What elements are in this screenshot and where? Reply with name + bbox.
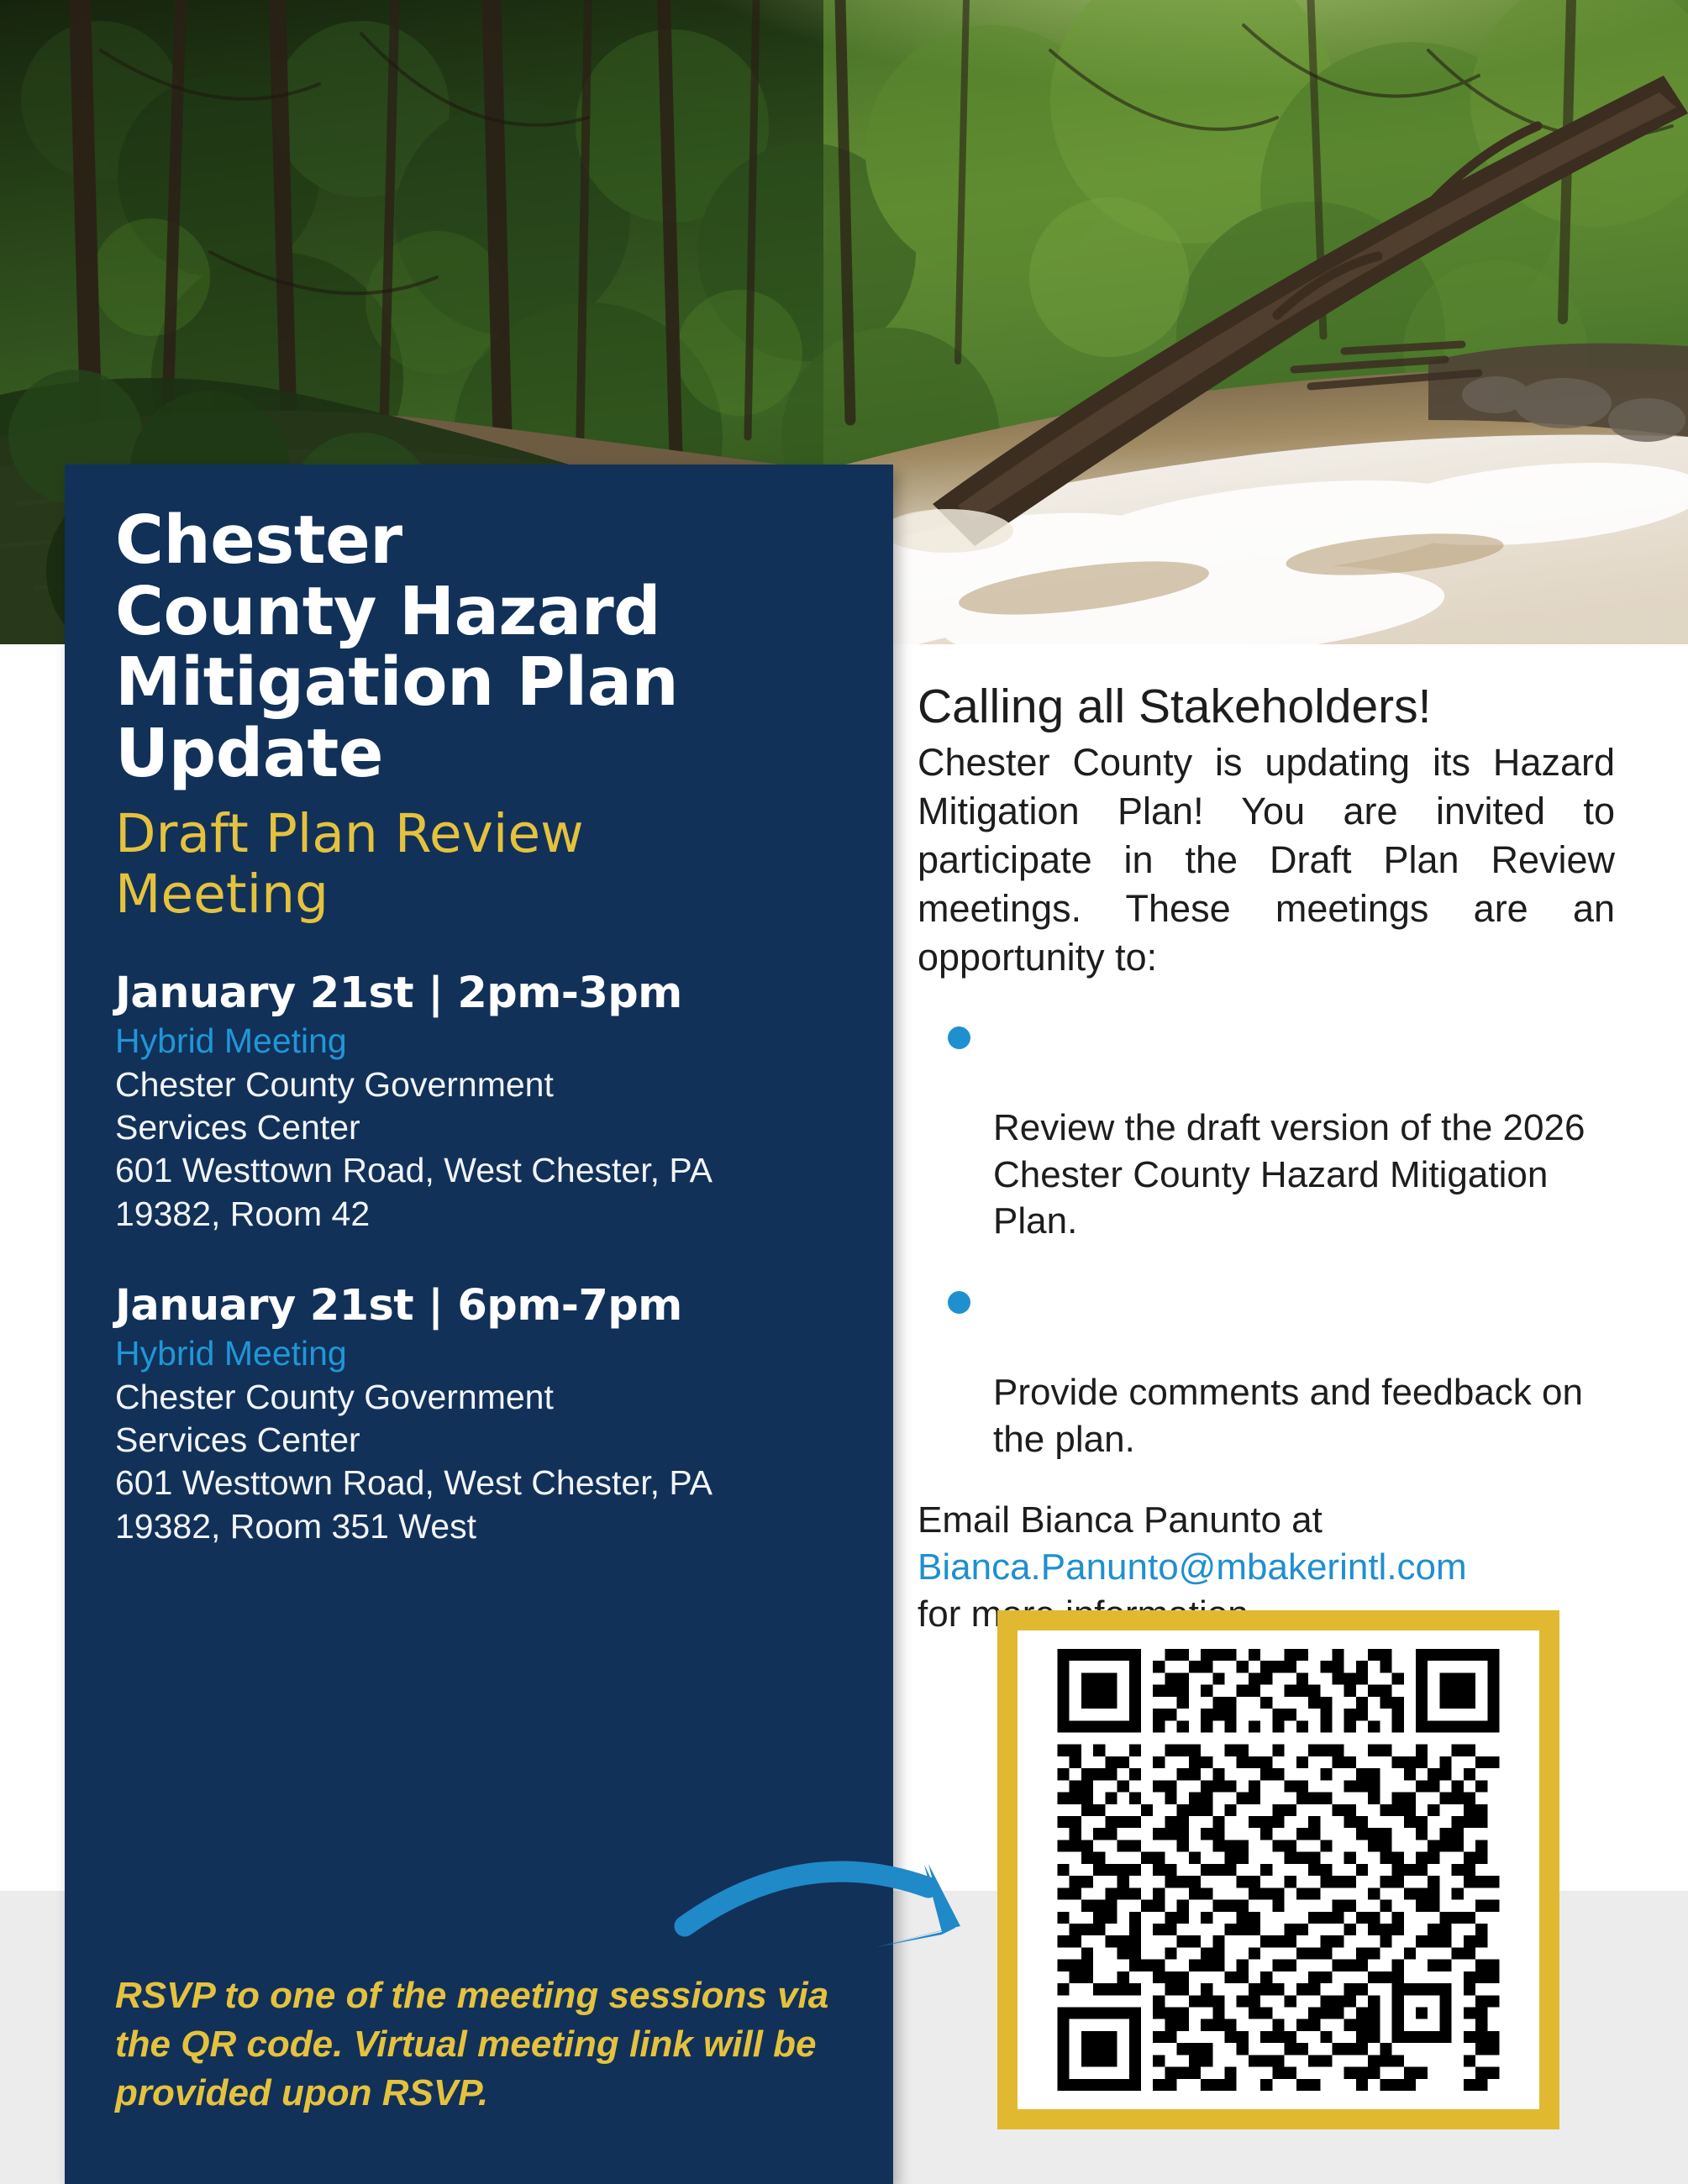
session-2-datetime: January 21st | 6pm-7pm bbox=[115, 1283, 843, 1329]
contact-prefix: Email Bianca Panunto at bbox=[918, 1497, 1615, 1544]
stakeholder-heading: Calling all Stakeholders! bbox=[918, 680, 1615, 733]
opportunity-bullet-list: Review the draft version of the 2026 Che… bbox=[918, 1011, 1615, 1463]
bullet-dot-icon bbox=[948, 1026, 970, 1049]
page-title: Chester County Hazard Mitigation Plan Up… bbox=[115, 505, 843, 789]
right-content-column: Calling all Stakeholders! Chester County… bbox=[918, 680, 1615, 1637]
session-block-1: January 21st | 2pm-3pm Hybrid Meeting Ch… bbox=[115, 970, 843, 1236]
session-block-2: January 21st | 6pm-7pm Hybrid Meeting Ch… bbox=[115, 1283, 843, 1548]
list-item: Review the draft version of the 2026 Che… bbox=[948, 1011, 1615, 1245]
session-1-venue: Chester County Government Services Cente… bbox=[115, 1063, 843, 1150]
bullet-text: Provide comments and feedback on the pla… bbox=[993, 1372, 1583, 1460]
bullet-text: Review the draft version of the 2026 Che… bbox=[993, 1107, 1585, 1242]
session-1-datetime: January 21st | 2pm-3pm bbox=[115, 970, 843, 1016]
intro-paragraph: Chester County is updating its Hazard Mi… bbox=[918, 738, 1615, 982]
session-2-address: 601 Westtown Road, West Chester, PA 1938… bbox=[115, 1462, 843, 1548]
qr-code[interactable] bbox=[1018, 1630, 1539, 2109]
contact-email-link[interactable]: Bianca.Panunto@mbakerintl.com bbox=[918, 1544, 1615, 1591]
session-1-address: 601 Westtown Road, West Chester, PA 1938… bbox=[115, 1149, 843, 1236]
qr-code-frame bbox=[997, 1610, 1559, 2129]
list-item: Provide comments and feedback on the pla… bbox=[948, 1275, 1615, 1463]
session-2-venue: Chester County Government Services Cente… bbox=[115, 1376, 843, 1462]
session-1-mode: Hybrid Meeting bbox=[115, 1020, 843, 1062]
page-subtitle: Draft Plan Review Meeting bbox=[115, 804, 843, 925]
session-2-mode: Hybrid Meeting bbox=[115, 1332, 843, 1374]
poster-canvas: Chester County Hazard Mitigation Plan Up… bbox=[0, 0, 1688, 2184]
curved-arrow-to-qr-icon bbox=[676, 1827, 1029, 2020]
bullet-dot-icon bbox=[948, 1291, 970, 1314]
